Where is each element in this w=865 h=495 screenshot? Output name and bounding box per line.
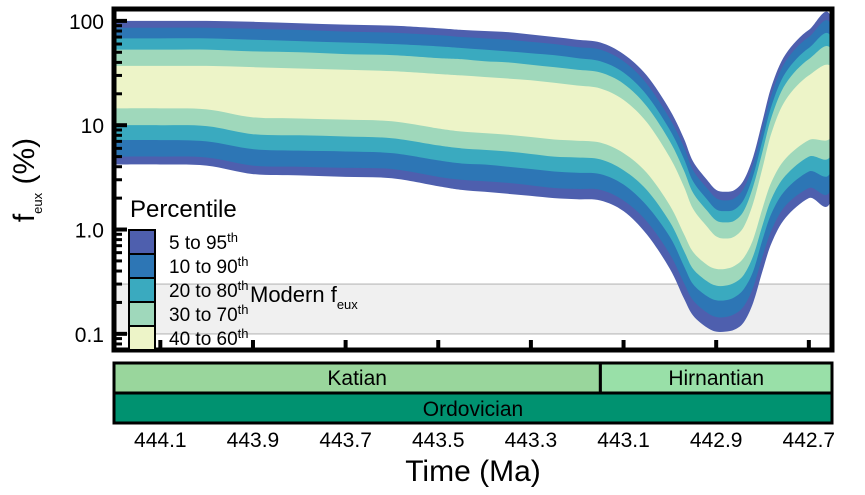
x-tick-label: 442.9: [690, 429, 743, 452]
x-tick-label: 443.9: [227, 429, 280, 452]
legend-swatch: [129, 278, 155, 302]
percentile-envelope-chart: 100101.00.1 444.1443.9443.7443.5443.3443…: [0, 0, 865, 490]
legend-swatch: [129, 326, 155, 350]
modern-feux-label-main: Modern f: [250, 282, 338, 307]
legend-item-label: 30 to 70th: [169, 302, 249, 326]
y-tick-label: 1.0: [75, 220, 104, 243]
x-tick-label: 443.7: [319, 429, 372, 452]
modern-feux-label-sub: eux: [337, 297, 358, 312]
x-tick-label: 444.1: [134, 429, 187, 452]
y-tick-label: 0.1: [75, 324, 104, 347]
legend-item-label: 20 to 80th: [169, 278, 249, 302]
y-axis-title-unit: (%): [8, 138, 41, 193]
timescale-bars: KatianHirnantianOrdovician: [114, 363, 832, 423]
legend-swatch: [129, 254, 155, 278]
x-tick-label: 443.5: [412, 429, 465, 452]
x-axis-title: Time (Ma): [405, 455, 541, 488]
legend-swatch: [129, 230, 155, 254]
timescale-stage-label: Hirnantian: [668, 367, 764, 390]
timescale-stage-label: Katian: [327, 367, 387, 390]
x-tick-label: 442.7: [783, 429, 836, 452]
x-tick-label: 443.1: [597, 429, 650, 452]
x-tick-label: 443.3: [505, 429, 558, 452]
y-tick-label: 100: [69, 11, 104, 34]
y-axis-title-sub: eux: [30, 192, 45, 213]
timescale-period-label: Ordovician: [423, 398, 523, 421]
legend-item-label: 40 to 60th: [169, 326, 249, 350]
chart-figure: 100101.00.1 444.1443.9443.7443.5443.3443…: [0, 0, 865, 490]
legend-item-label: 10 to 90th: [169, 254, 249, 278]
legend-title: Percentile: [130, 196, 237, 223]
y-tick-label: 10: [81, 115, 104, 138]
legend-swatch: [129, 302, 155, 326]
